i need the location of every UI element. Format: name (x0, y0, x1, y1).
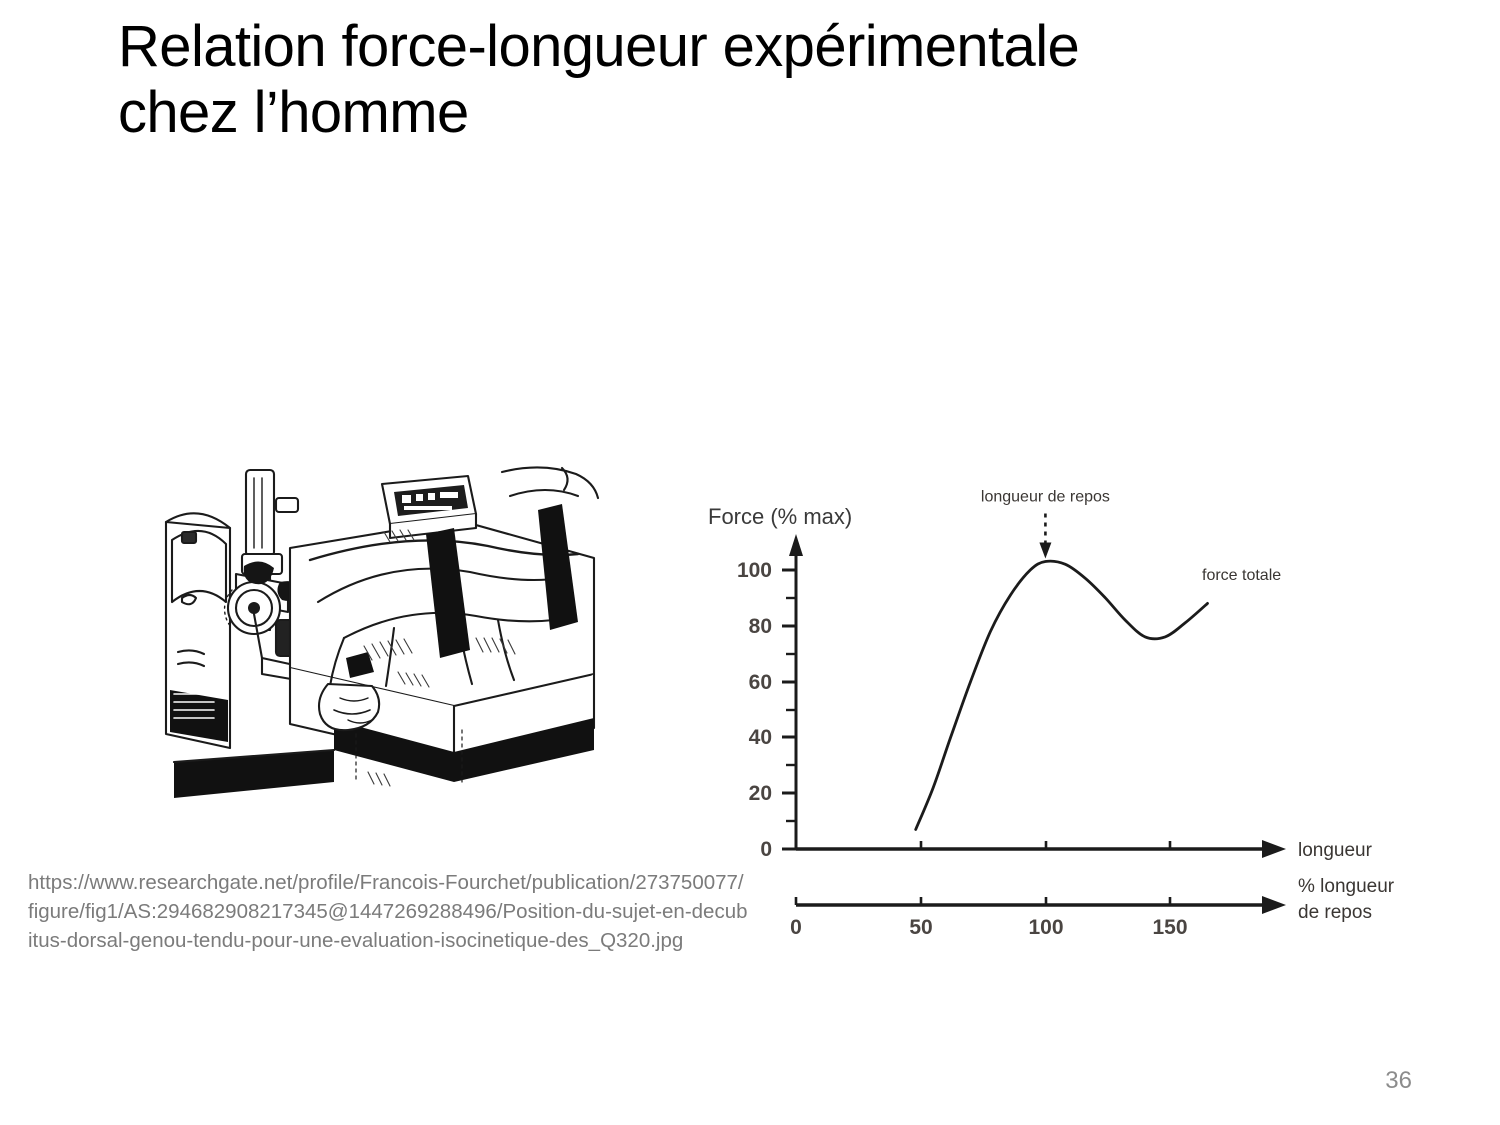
y-tick-label-100: 100 (737, 559, 772, 582)
page-number: 36 (1385, 1067, 1412, 1095)
longueur-de-repos-label: longueur de repos (981, 489, 1110, 506)
y-axis (789, 534, 803, 849)
x-axis-longueur-label: longueur (1298, 840, 1373, 861)
x-tick-label-50: 50 (909, 916, 932, 939)
x-axis-percent-label-line1: % longueur (1298, 876, 1395, 897)
force-totale-label: force totale (1202, 567, 1281, 584)
longueur-de-repos-annotation (1039, 514, 1051, 559)
x-tick-label-150: 150 (1152, 916, 1187, 939)
y-tick-label-40: 40 (749, 726, 772, 749)
x-tick-label-100: 100 (1028, 916, 1063, 939)
x-axis-percent-resting-length (796, 896, 1286, 914)
y-tick-label-0: 0 (760, 838, 772, 861)
force-totale-curve (916, 561, 1208, 829)
x-axis-longueur (796, 840, 1286, 858)
y-tick-label-20: 20 (749, 782, 772, 805)
source-url-caption: https://www.researchgate.net/profile/Fra… (28, 868, 748, 955)
x-axis-percent-label-line2: de repos (1298, 902, 1372, 923)
force-length-chart: Force (% max) (690, 462, 1450, 942)
slide-canvas: Relation force-longueur expérimentale ch… (0, 0, 1500, 1125)
page-title: Relation force-longueur expérimentale ch… (118, 14, 1418, 146)
isokinetic-dynamometer-illustration (158, 462, 606, 866)
y-tick-label-60: 60 (749, 671, 772, 694)
y-axis-title: Force (% max) (708, 504, 852, 529)
y-tick-label-80: 80 (749, 615, 772, 638)
x-tick-label-0: 0 (790, 916, 802, 939)
